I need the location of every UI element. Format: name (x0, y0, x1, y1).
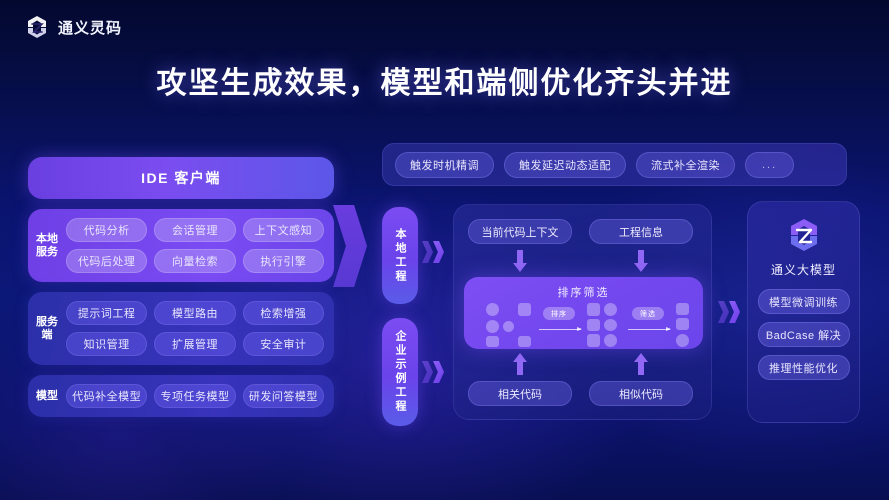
pill-knowledge-management[interactable]: 知识管理 (66, 332, 147, 356)
node-square (676, 303, 689, 315)
pill-retrieval-augmentation[interactable]: 检索增强 (243, 301, 324, 325)
node-square (587, 319, 600, 331)
flow-step-sort[interactable]: 排序 (543, 307, 575, 320)
node-circle (486, 320, 499, 333)
tongyi-lingma-logo-icon (24, 14, 50, 40)
node-square (587, 303, 600, 316)
node-circle (604, 334, 617, 347)
group-model-items: 代码补全模型 专项任务模型 研发问答模型 (66, 384, 324, 408)
brand-logo-row: 通义灵码 (24, 14, 122, 40)
group-server-side: 服务端 提示词工程 模型路由 检索增强 知识管理 扩展管理 安全审计 (28, 292, 334, 365)
arrow-up-icon-similar (634, 353, 648, 375)
rank-filter-title: 排序筛选 (464, 284, 703, 300)
node-circle (486, 303, 499, 316)
group-server-side-label: 服务端 (36, 301, 58, 356)
left-architecture-column: IDE 客户端 本地服务 代码分析 会话管理 上下文感知 代码后处理 向量检索 … (28, 157, 334, 417)
pill-code-postprocess[interactable]: 代码后处理 (66, 249, 147, 273)
node-circle (604, 319, 617, 331)
node-circle (676, 334, 689, 347)
pill-dev-qa-model[interactable]: 研发问答模型 (243, 384, 324, 408)
arrow-up-icon-related (513, 353, 527, 375)
chevron-right-icon-bottom (422, 357, 448, 387)
pill-trigger-latency-adaptation[interactable]: 触发延迟动态适配 (504, 152, 626, 178)
chevron-right-icon-to-model (718, 297, 744, 327)
pill-context-awareness[interactable]: 上下文感知 (243, 218, 324, 242)
pill-code-completion-model[interactable]: 代码补全模型 (66, 384, 147, 408)
tongyi-model-panel: 通义大模型 模型微调训练 BadCase 解决 推理性能优化 (747, 201, 860, 423)
group-model-label: 模型 (36, 384, 58, 408)
flow-arrow-sort-icon (539, 329, 581, 330)
stage-chip-local-project[interactable]: 本地工程 (382, 207, 418, 304)
pill-model-routing[interactable]: 模型路由 (154, 301, 235, 325)
arrow-down-icon-project (634, 250, 648, 272)
node-square (518, 303, 531, 316)
group-model: 模型 代码补全模型 专项任务模型 研发问答模型 (28, 375, 334, 417)
pill-streaming-completion-render[interactable]: 流式补全渲染 (636, 152, 735, 178)
group-local-service-label: 本地服务 (36, 218, 58, 273)
node-square (587, 334, 600, 347)
pill-project-info[interactable]: 工程信息 (589, 219, 693, 244)
arrow-down-icon-context (513, 250, 527, 272)
left-to-center-arrow-icon (333, 205, 367, 287)
group-local-service: 本地服务 代码分析 会话管理 上下文感知 代码后处理 向量检索 执行引擎 (28, 209, 334, 282)
pill-badcase-resolution[interactable]: BadCase 解决 (758, 322, 850, 347)
group-server-side-items: 提示词工程 模型路由 检索增强 知识管理 扩展管理 安全审计 (66, 301, 324, 356)
group-local-service-items: 代码分析 会话管理 上下文感知 代码后处理 向量检索 执行引擎 (66, 218, 324, 273)
stage-chip-enterprise-project[interactable]: 企业示例工程 (382, 318, 418, 426)
pill-vector-retrieval[interactable]: 向量检索 (154, 249, 235, 273)
brand-name: 通义灵码 (58, 17, 122, 38)
node-square (676, 318, 689, 330)
pill-model-finetune-training[interactable]: 模型微调训练 (758, 289, 850, 314)
chevron-right-icon-top (422, 237, 448, 267)
context-pipeline-panel: 当前代码上下文 工程信息 排序筛选 排序 筛选 相关代码 相似 (453, 204, 712, 420)
node-circle (604, 303, 617, 316)
pill-task-specific-model[interactable]: 专项任务模型 (154, 384, 235, 408)
node-square (518, 336, 531, 347)
ide-client-bar[interactable]: IDE 客户端 (28, 157, 334, 199)
node-square (486, 336, 499, 347)
pill-more-options[interactable]: ... (745, 152, 794, 178)
rank-filter-box: 排序筛选 排序 筛选 (464, 277, 703, 349)
pill-inference-performance-optimization[interactable]: 推理性能优化 (758, 355, 850, 380)
pill-similar-code[interactable]: 相似代码 (589, 381, 693, 406)
pill-code-analysis[interactable]: 代码分析 (66, 218, 147, 242)
pill-security-audit[interactable]: 安全审计 (243, 332, 324, 356)
flow-arrow-filter-icon (628, 329, 670, 330)
page-title: 攻坚生成效果，模型和端侧优化齐头并进 (0, 58, 889, 102)
tongyi-model-items: 模型微调训练 BadCase 解决 推理性能优化 (758, 289, 850, 380)
optimization-tags-bar: 触发时机精调 触发延迟动态适配 流式补全渲染 ... (382, 143, 847, 186)
pill-execution-engine[interactable]: 执行引擎 (243, 249, 324, 273)
pill-current-code-context[interactable]: 当前代码上下文 (468, 219, 572, 244)
tongyi-model-title: 通义大模型 (771, 261, 836, 278)
pill-extension-management[interactable]: 扩展管理 (154, 332, 235, 356)
node-circle (503, 321, 514, 332)
node-diagram (464, 303, 703, 347)
pill-trigger-timing-tuning[interactable]: 触发时机精调 (395, 152, 494, 178)
pill-related-code[interactable]: 相关代码 (468, 381, 572, 406)
pill-session-management[interactable]: 会话管理 (154, 218, 235, 242)
tongyi-model-logo-icon (785, 216, 823, 254)
flow-step-filter[interactable]: 筛选 (632, 307, 664, 320)
pill-prompt-engineering[interactable]: 提示词工程 (66, 301, 147, 325)
